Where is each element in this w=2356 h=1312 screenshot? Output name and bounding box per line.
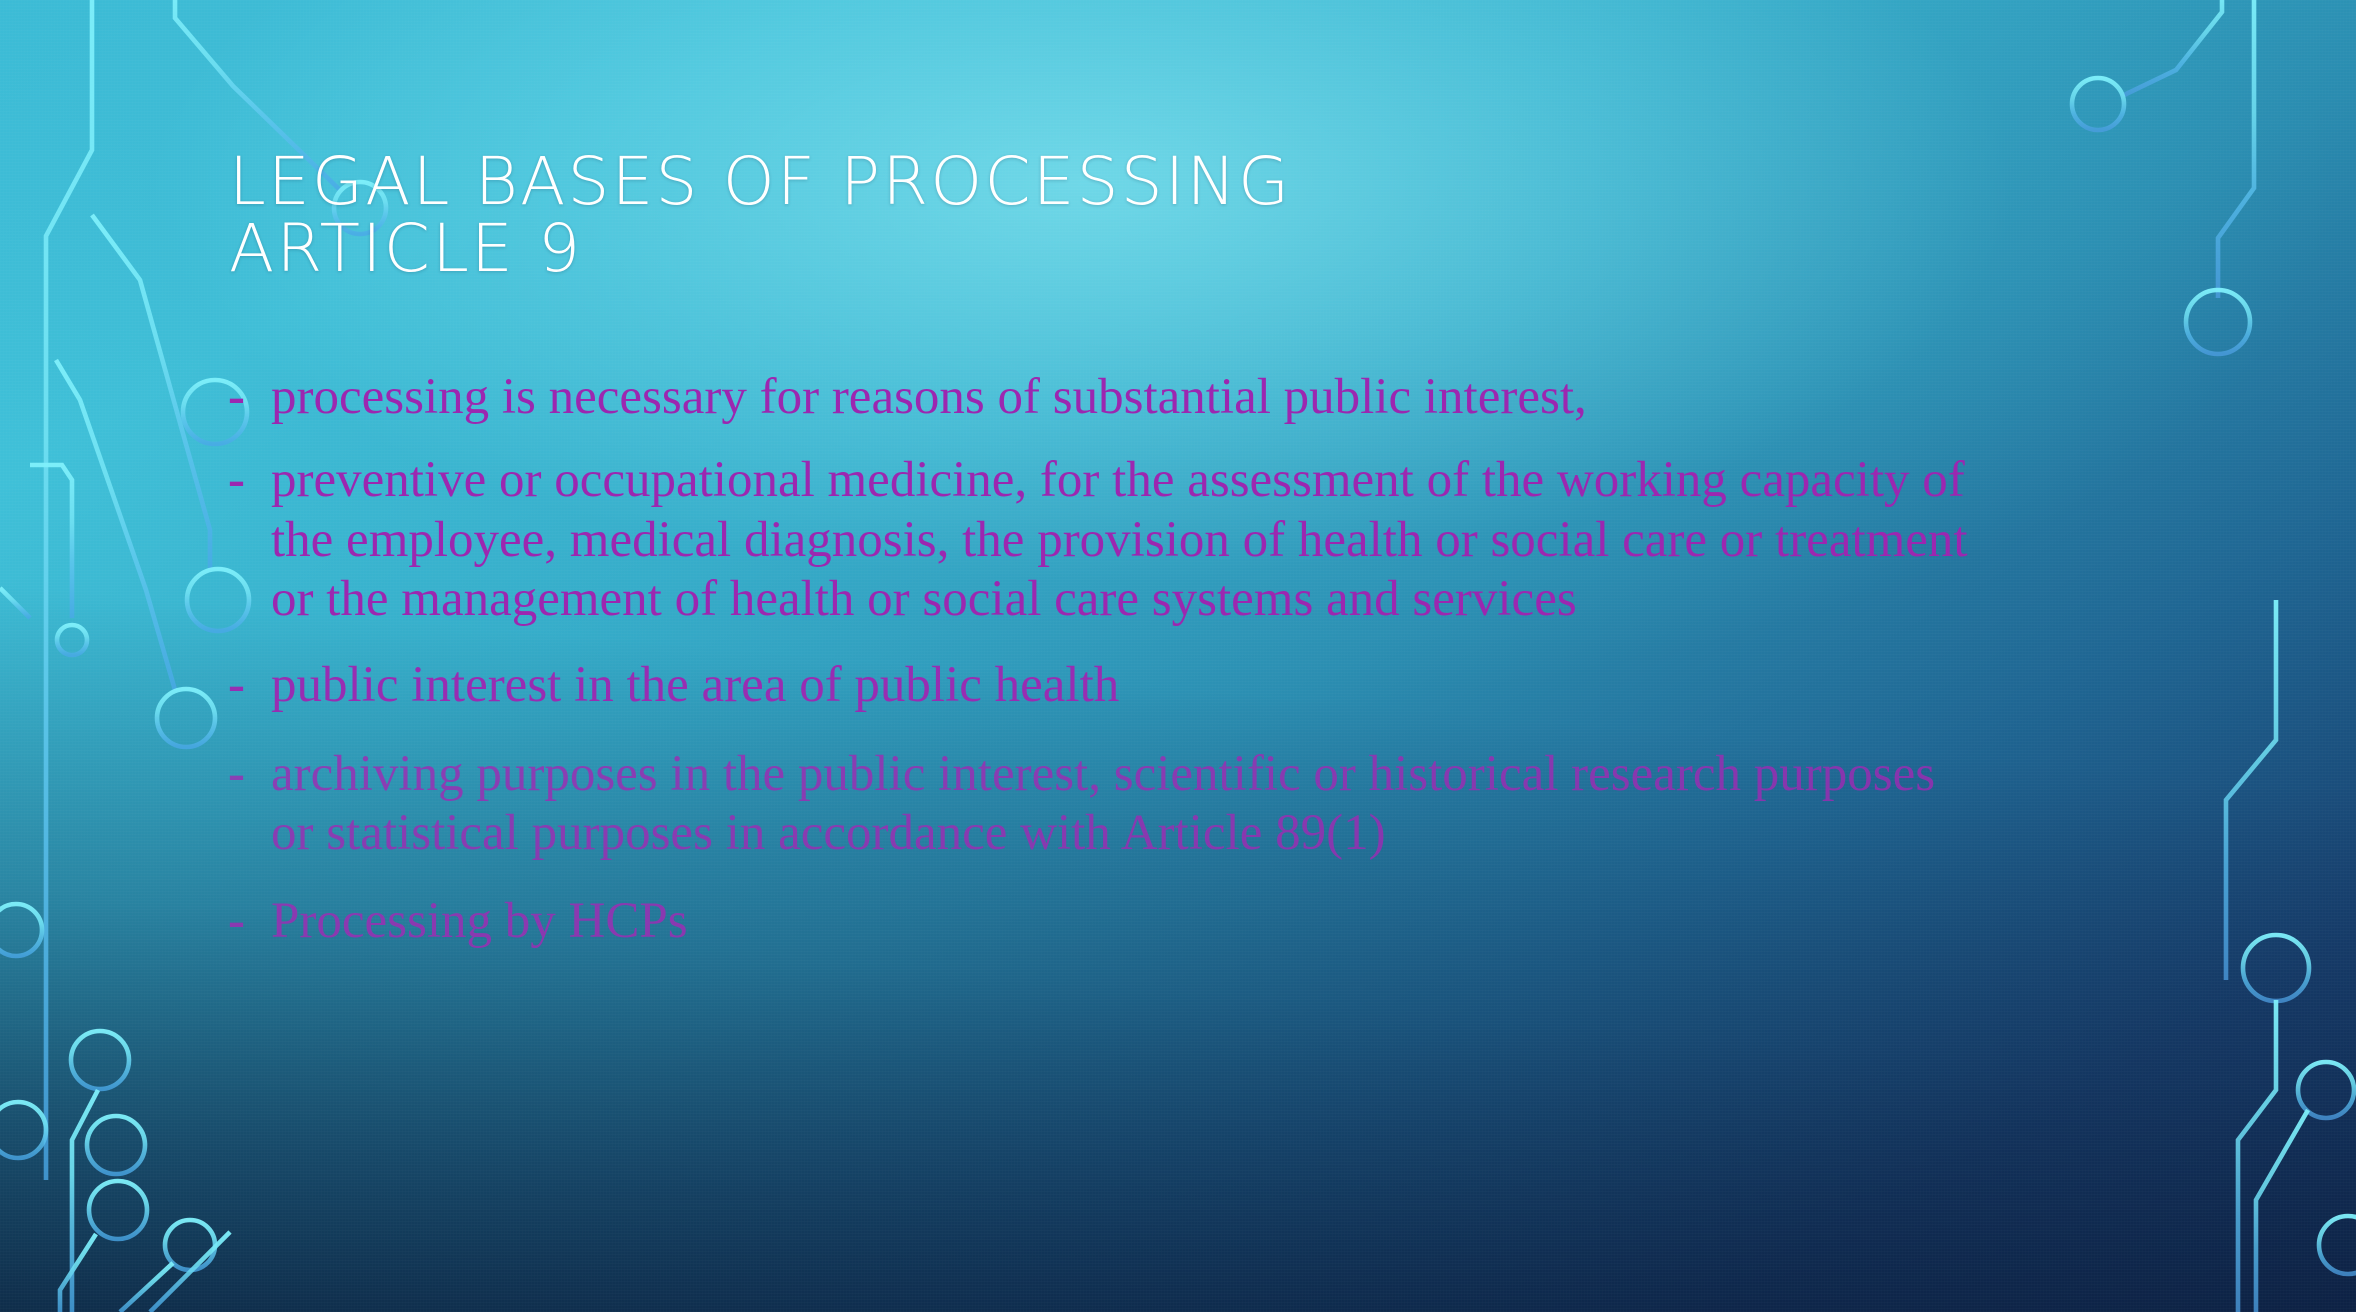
slide-bullet-list: - processing is necessary for reasons of…	[228, 368, 2188, 975]
bullet-text: public interest in the area of public he…	[271, 656, 2188, 715]
bullet-dash-marker: -	[228, 745, 271, 804]
bullet-text: preventive or occupational medicine, for…	[271, 451, 2188, 629]
slide-content: Legal bases of processing Article 9 - pr…	[0, 0, 2356, 1312]
slide-title: Legal bases of processing Article 9	[229, 148, 1929, 283]
bullet-dash-marker: -	[228, 892, 271, 951]
slide-title-line-1: Legal bases of processing	[229, 148, 1929, 215]
bullet-dash-marker: -	[228, 368, 271, 427]
bullet-item: - Processing by HCPs	[228, 892, 2188, 951]
bullet-item: - preventive or occupational medicine, f…	[228, 451, 2188, 629]
bullet-item: - public interest in the area of public …	[228, 656, 2188, 715]
bullet-text: Processing by HCPs	[271, 892, 2188, 951]
bullet-dash-marker: -	[228, 656, 271, 715]
bullet-text: processing is necessary for reasons of s…	[271, 368, 2188, 427]
bullet-dash-marker: -	[228, 451, 271, 510]
bullet-text: archiving purposes in the public interes…	[271, 745, 2188, 864]
presentation-slide: Legal bases of processing Article 9 - pr…	[0, 0, 2356, 1312]
bullet-item: - processing is necessary for reasons of…	[228, 368, 2188, 427]
slide-title-line-2: Article 9	[229, 215, 1929, 282]
bullet-item: - archiving purposes in the public inter…	[228, 745, 2188, 864]
